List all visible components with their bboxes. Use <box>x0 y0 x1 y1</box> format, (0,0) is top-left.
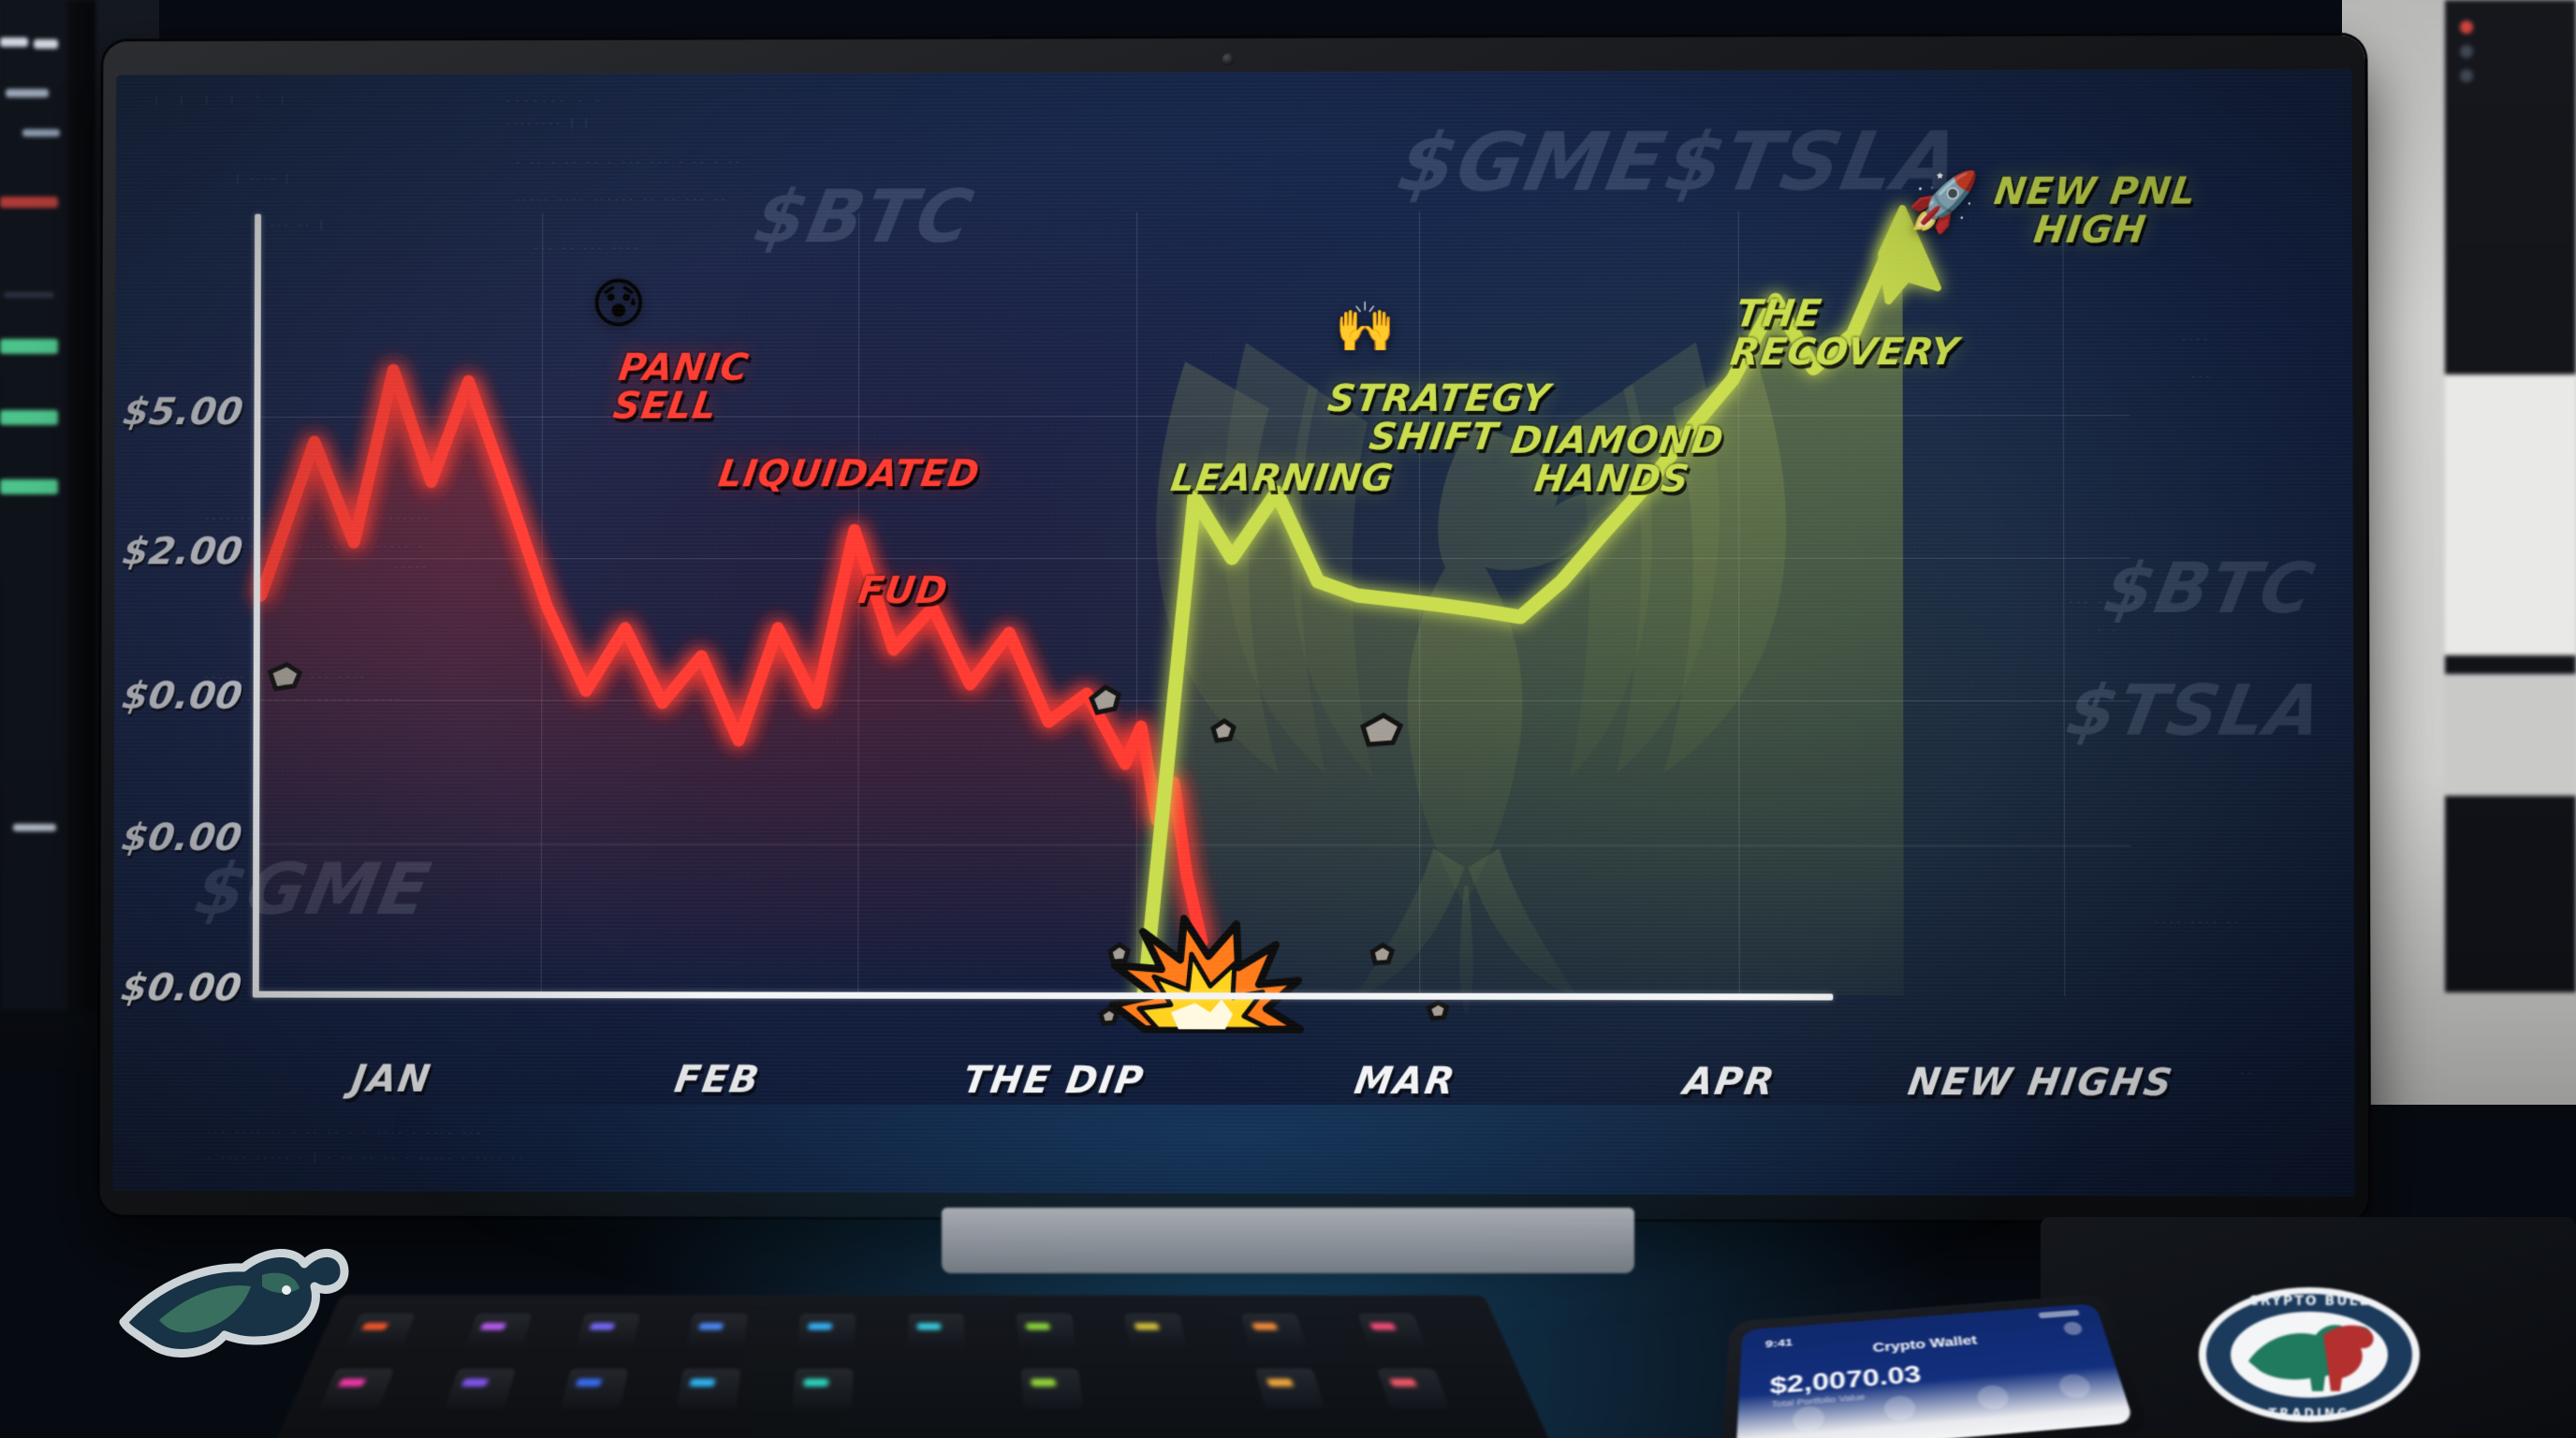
crypto-bull-trading-sticker: CRYPTO BULL TRADING <box>2192 1281 2426 1429</box>
phone-app-title: Crypto Wallet <box>1740 1324 2106 1366</box>
phone-status-icons <box>2039 1310 2080 1318</box>
svg-text:TRADING: TRADING <box>2268 1407 2349 1421</box>
rgb-keyboard[interactable] <box>272 1295 1552 1438</box>
monitor-stand <box>942 1208 1634 1273</box>
side-monitor-left <box>0 0 73 1011</box>
phone-action-send[interactable] <box>1976 1385 2011 1411</box>
screen-noise-overlay <box>112 69 2355 1196</box>
phone-action-buy[interactable] <box>1793 1405 1824 1432</box>
webcam-icon <box>1222 53 1235 66</box>
main-monitor: | | | | ' | | ---- | | --- -- | ------- … <box>99 36 2368 1222</box>
side-monitor-right <box>2445 0 2576 992</box>
monitor-screen: | | | | ' | | ---- | | --- -- | ------- … <box>112 69 2355 1196</box>
desk-scene: | | | | ' | | ---- | | --- -- | ------- … <box>0 0 2576 1438</box>
phone-screen[interactable]: 9:41 Crypto Wallet $2,0070.03 Total Port… <box>1735 1303 2134 1438</box>
svg-text:CRYPTO BULL: CRYPTO BULL <box>2249 1294 2370 1309</box>
phone-action-sell[interactable] <box>1883 1395 1917 1422</box>
phone-action-more[interactable] <box>2056 1373 2093 1400</box>
